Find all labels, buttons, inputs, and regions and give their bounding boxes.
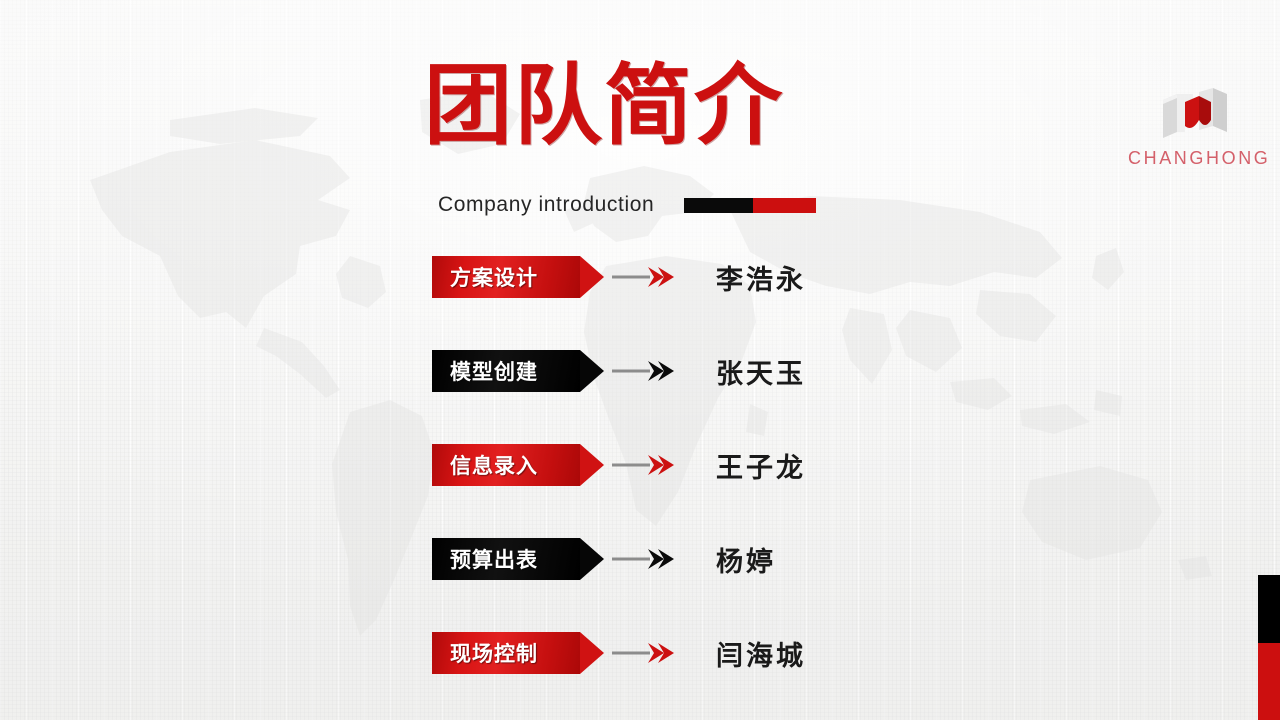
role-label: 现场控制	[450, 638, 538, 668]
person-name: 闫海城	[716, 634, 806, 673]
role-list: 方案设计 李浩永 模型创建 张天玉 信息录入	[432, 256, 992, 674]
person-name: 张天玉	[716, 352, 806, 391]
edge-tab-black-segment	[1258, 575, 1280, 643]
role-banner[interactable]: 模型创建	[432, 350, 580, 392]
edge-tab-red-segment	[1258, 643, 1280, 720]
person-name: 王子龙	[716, 446, 806, 485]
arrow-right-icon	[612, 264, 674, 290]
brand-name: CHANGHONG	[1128, 148, 1260, 169]
role-label: 信息录入	[450, 450, 538, 480]
arrow-right-icon	[612, 640, 674, 666]
role-banner[interactable]: 方案设计	[432, 256, 580, 298]
divider-black-segment	[684, 198, 753, 213]
page-subtitle: Company introduction	[438, 193, 654, 217]
slide-canvas: 团队简介 Company introduction CHANGHONG 方案设计	[0, 0, 1280, 720]
role-row[interactable]: 模型创建 张天玉	[432, 350, 992, 392]
page-edge-tab	[1258, 575, 1280, 720]
divider-red-segment	[753, 198, 816, 213]
role-banner[interactable]: 信息录入	[432, 444, 580, 486]
changhong-logo-icon	[1155, 86, 1233, 144]
role-label: 预算出表	[450, 544, 538, 574]
arrow-right-icon	[612, 358, 674, 384]
role-banner[interactable]: 现场控制	[432, 632, 580, 674]
subtitle-row: Company introduction	[438, 193, 816, 217]
role-row[interactable]: 预算出表 杨婷	[432, 538, 992, 580]
role-row[interactable]: 现场控制 闫海城	[432, 632, 992, 674]
role-row[interactable]: 信息录入 王子龙	[432, 444, 992, 486]
role-row[interactable]: 方案设计 李浩永	[432, 256, 992, 298]
arrow-right-icon	[612, 452, 674, 478]
role-label: 模型创建	[450, 356, 538, 386]
title-divider	[684, 198, 816, 213]
title-block: 团队简介	[424, 60, 884, 152]
role-label: 方案设计	[450, 262, 538, 292]
page-title: 团队简介	[424, 60, 884, 152]
arrow-right-icon	[612, 546, 674, 572]
role-banner[interactable]: 预算出表	[432, 538, 580, 580]
person-name: 李浩永	[716, 258, 806, 297]
brand-logo: CHANGHONG	[1128, 86, 1260, 169]
person-name: 杨婷	[716, 540, 776, 579]
